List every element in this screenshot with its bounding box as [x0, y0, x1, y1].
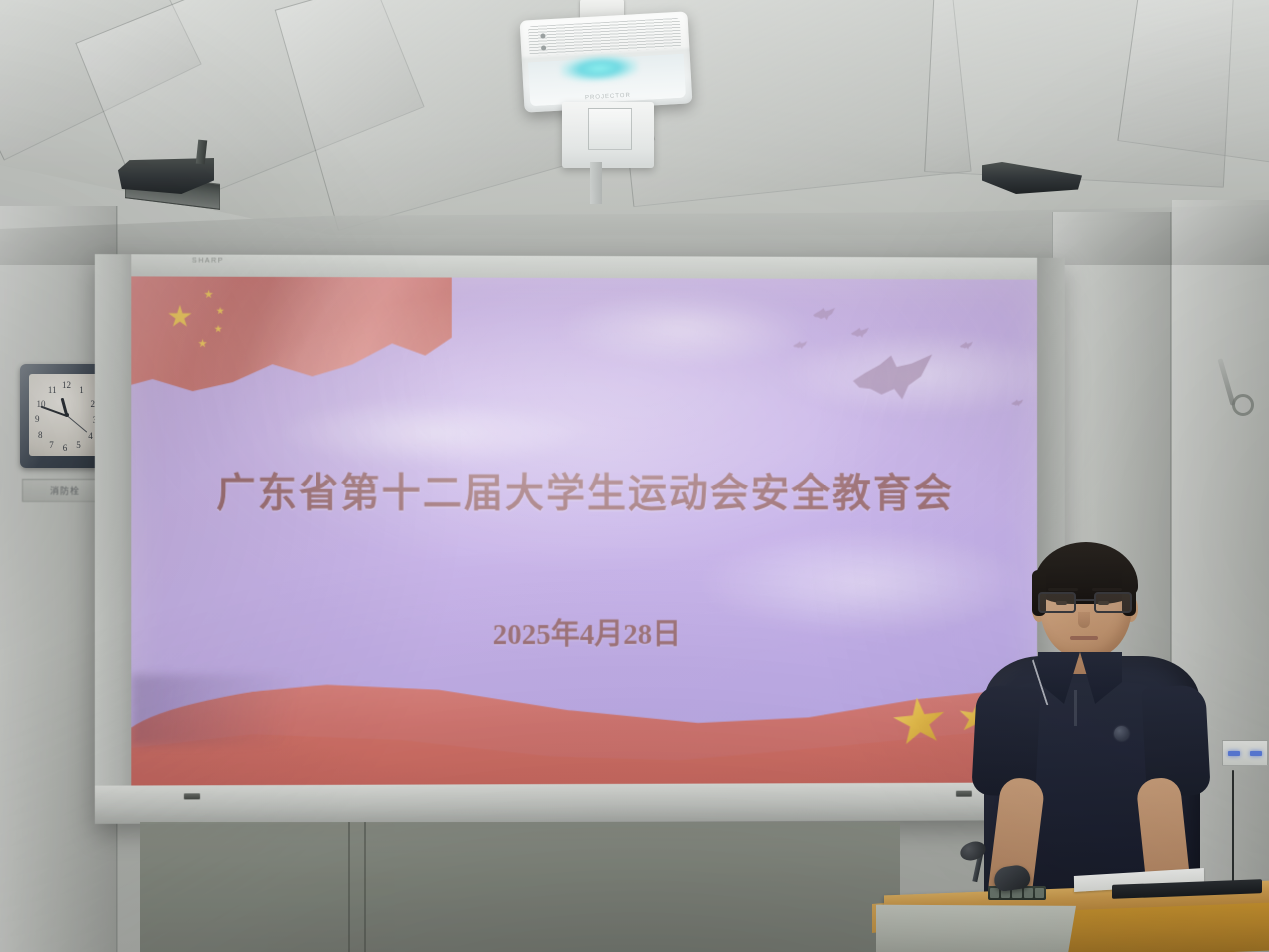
lecture-room-photo: 12 1 2 3 4 5 6 7 8 9 10 11 消防栓 [0, 0, 1269, 952]
slide-date: 2025年4月28日 [131, 611, 1037, 654]
screen-brand-label: SHARP [192, 257, 224, 264]
eyebrow-left [1048, 588, 1078, 591]
keypad-key[interactable] [1035, 888, 1044, 898]
projector-mount-arm [562, 102, 654, 168]
switch-led-indicator [1250, 751, 1262, 756]
projector-body: PROJECTOR [520, 11, 693, 112]
slide-title: 广东省第十二届大学生运动会安全教育会 [131, 462, 1037, 519]
keypad-key[interactable] [1024, 888, 1033, 898]
glasses-lens-left [1038, 592, 1076, 613]
nose [1078, 612, 1090, 628]
board-seam [348, 822, 350, 952]
shirt-placket [1074, 690, 1077, 726]
switch-led-indicator [1228, 751, 1240, 756]
mouth [1070, 636, 1098, 640]
screen-frame-bottom [95, 782, 1065, 824]
wave-shadow [131, 674, 363, 745]
ceiling-projector: PROJECTOR [512, 0, 702, 188]
podium-control-panel [876, 899, 1076, 952]
projection-screen: SHARP [95, 254, 1065, 824]
wall-board-below-screen [140, 822, 900, 952]
glasses-lens-right [1094, 592, 1132, 613]
projector-vent-grille [528, 18, 681, 56]
eyeglasses [1038, 592, 1134, 614]
cable-hook [1216, 358, 1252, 418]
cloud-shape [554, 288, 813, 369]
board-seam [364, 822, 366, 952]
wall-switch-panel[interactable] [1222, 740, 1268, 766]
shirt-chest-logo [1114, 726, 1129, 741]
screen-bracket [184, 793, 200, 799]
dove-small [813, 307, 835, 323]
cable-coil [1232, 394, 1254, 416]
keypad-key[interactable] [990, 888, 999, 898]
projector-mount-pole [590, 162, 602, 204]
projector-lens-glow [560, 53, 639, 83]
slide-content-area: 广东省第十二届大学生运动会安全教育会 2025年4月28日 [131, 276, 1037, 785]
cloud-shape [273, 397, 594, 468]
glasses-bridge [1076, 599, 1096, 601]
screen-frame-left [95, 254, 131, 824]
eyebrow-right [1092, 588, 1122, 591]
mount-arm-plate [588, 108, 632, 150]
lectern-podium [884, 876, 1269, 952]
